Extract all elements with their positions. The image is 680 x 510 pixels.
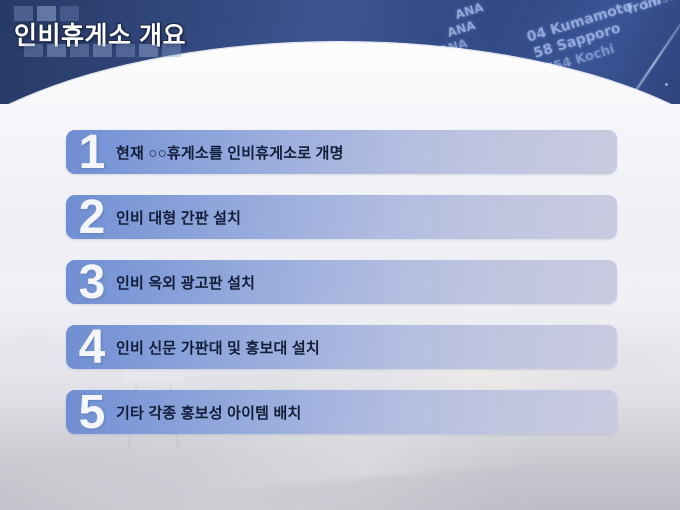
list-item[interactable]: 5 기타 각종 홍보성 아이템 배치 bbox=[66, 390, 617, 434]
list-item-label: 기타 각종 홍보성 아이템 배치 bbox=[116, 390, 605, 434]
list-item-label: 인비 옥외 광고판 설치 bbox=[116, 260, 605, 304]
list-item[interactable]: 3 인비 옥외 광고판 설치 bbox=[66, 260, 617, 304]
list-item-number: 4 bbox=[70, 320, 114, 376]
list-item[interactable]: 4 인비 신문 가판대 및 홍보대 설치 bbox=[66, 325, 617, 369]
list-item-label: 인비 신문 가판대 및 홍보대 설치 bbox=[116, 325, 605, 369]
list-item-number: 3 bbox=[70, 255, 114, 311]
list-item-label: 현재 ○○휴게소를 인비휴게소로 개명 bbox=[116, 130, 605, 174]
slide: 1 051 from 04 Kumamoto 58 Sapporo 754 Ko… bbox=[0, 0, 680, 510]
list-item-number: 5 bbox=[70, 385, 114, 441]
list-item[interactable]: 2 인비 대형 간판 설치 bbox=[66, 195, 617, 239]
list-item[interactable]: 1 현재 ○○휴게소를 인비휴게소로 개명 bbox=[66, 130, 617, 174]
list-item-number: 2 bbox=[70, 190, 114, 246]
list-item-number: 1 bbox=[70, 125, 114, 181]
numbered-list: 1 현재 ○○휴게소를 인비휴게소로 개명 2 인비 대형 간판 설치 3 인비… bbox=[0, 0, 680, 510]
list-item-label: 인비 대형 간판 설치 bbox=[116, 195, 605, 239]
